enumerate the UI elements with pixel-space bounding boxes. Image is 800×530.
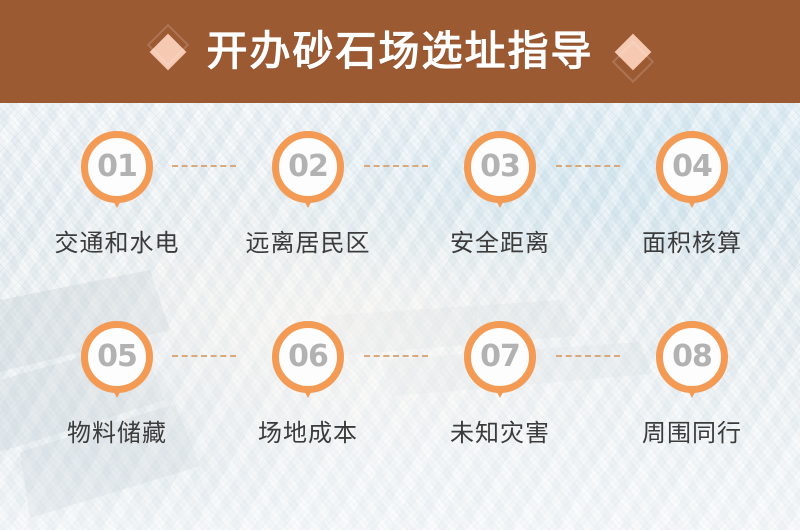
step-number-circle: 04 [656, 131, 728, 203]
step-item-07[interactable]: 07 未知灾害 [424, 321, 576, 446]
step-number: 04 [672, 152, 712, 182]
step-item-08[interactable]: 08 周围同行 [616, 321, 768, 446]
step-number-circle: 06 [272, 321, 344, 393]
step-item-05[interactable]: 05 物料储藏 [41, 321, 193, 446]
step-number: 03 [480, 152, 520, 182]
step-pin-badge: 05 [81, 321, 153, 393]
step-label: 物料储藏 [41, 422, 193, 446]
steps-row-2: 05 物料储藏 06 场地成本 07 [0, 321, 800, 501]
step-item-06[interactable]: 06 场地成本 [232, 321, 384, 446]
step-item-01[interactable]: 01 交通和水电 [41, 131, 193, 256]
step-number-circle: 01 [81, 131, 153, 203]
infographic-page: 开办砂石场选址指导 01 交通和水电 02 [0, 0, 800, 530]
step-connector [556, 355, 620, 357]
step-number: 06 [288, 342, 328, 372]
step-number-circle: 07 [464, 321, 536, 393]
step-label: 未知灾害 [424, 422, 576, 446]
step-connector [364, 355, 428, 357]
step-label: 周围同行 [616, 422, 768, 446]
step-connector [172, 355, 236, 357]
diamond-decoration-icon-right [614, 33, 651, 70]
step-pin-badge: 03 [464, 131, 536, 203]
step-pin-badge: 04 [656, 131, 728, 203]
step-connector [556, 165, 620, 167]
diamond-decoration-icon-left [149, 33, 186, 70]
step-number-circle: 03 [464, 131, 536, 203]
step-label: 安全距离 [424, 232, 576, 256]
step-item-03[interactable]: 03 安全距离 [424, 131, 576, 256]
step-number-circle: 02 [272, 131, 344, 203]
step-number-circle: 08 [656, 321, 728, 393]
step-pin-badge: 01 [81, 131, 153, 203]
step-number: 08 [672, 342, 712, 372]
step-number: 05 [97, 342, 137, 372]
step-pin-badge: 07 [464, 321, 536, 393]
step-number: 07 [480, 342, 520, 372]
step-label: 远离居民区 [232, 232, 384, 256]
step-label: 场地成本 [232, 422, 384, 446]
step-item-02[interactable]: 02 远离居民区 [232, 131, 384, 256]
step-connector [364, 165, 428, 167]
header-banner: 开办砂石场选址指导 [0, 0, 800, 103]
step-number-circle: 05 [81, 321, 153, 393]
step-pin-badge: 02 [272, 131, 344, 203]
step-item-04[interactable]: 04 面积核算 [616, 131, 768, 256]
step-number: 02 [288, 152, 328, 182]
step-pin-badge: 08 [656, 321, 728, 393]
step-pin-badge: 06 [272, 321, 344, 393]
page-title: 开办砂石场选址指导 [207, 31, 594, 72]
steps-container: 01 交通和水电 02 远离居民区 03 [0, 103, 800, 530]
steps-row-1: 01 交通和水电 02 远离居民区 03 [0, 131, 800, 311]
step-label: 交通和水电 [41, 232, 193, 256]
step-label: 面积核算 [616, 232, 768, 256]
step-number: 01 [97, 152, 137, 182]
step-connector [172, 165, 236, 167]
